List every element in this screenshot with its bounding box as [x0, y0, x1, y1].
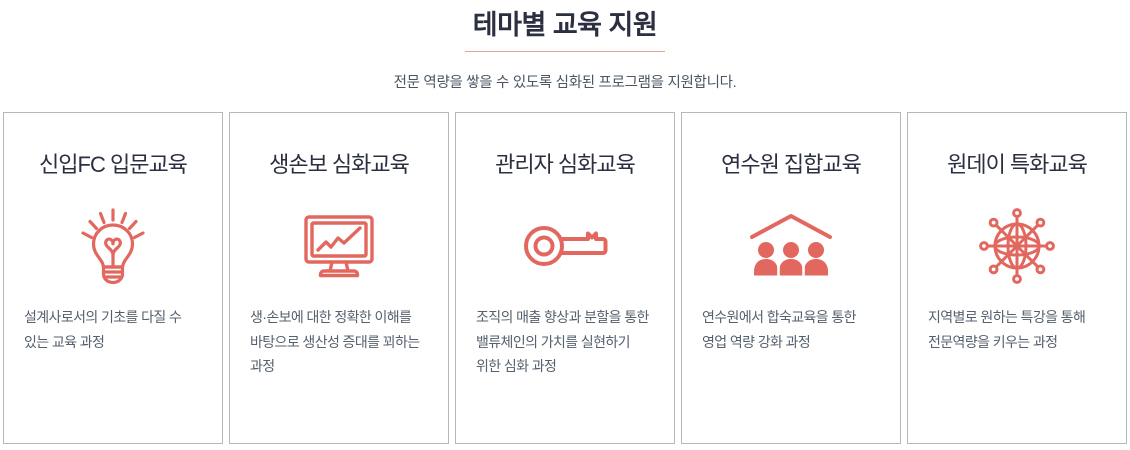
card-title: 관리자 심화교육 — [495, 151, 635, 179]
card-title: 생손보 심화교육 — [269, 151, 409, 179]
card-title: 연수원 집합교육 — [721, 151, 861, 179]
card-description: 지역별로 원하는 특강을 통해 전문역량을 키우는 과정 — [928, 305, 1106, 354]
training-card-row: 신입FC 입문교육 — [0, 112, 1130, 444]
card-description: 연수원에서 합숙교육을 통한 영업 역량 강화 과정 — [702, 305, 880, 354]
page-title: 테마별 교육 지원 — [0, 8, 1130, 42]
card-title: 원데이 특화교육 — [947, 151, 1087, 179]
card-description: 조직의 매출 향상과 분할을 통한 밸류체인의 가치를 실현하기 위한 심화 과… — [476, 305, 654, 379]
people-under-roof-icon — [747, 205, 835, 287]
card-description: 생·손보에 대한 정확한 이해를 바탕으로 생산성 증대를 꾀하는 과정 — [250, 305, 428, 379]
section-header: 테마별 교육 지원 전문 역량을 쌓을 수 있도록 심화된 프로그램을 지원합니… — [0, 0, 1130, 93]
training-card-shinip-fc[interactable]: 신입FC 입문교육 — [3, 112, 223, 444]
training-card-saengsonbo[interactable]: 생손보 심화교육 — [229, 112, 449, 444]
card-description: 설계사로서의 기초를 다질 수 있는 교육 과정 — [24, 305, 202, 354]
page-subtitle: 전문 역량을 쌓을 수 있도록 심화된 프로그램을 지원합니다. — [0, 73, 1130, 93]
training-card-oneday[interactable]: 원데이 특화교육 — [907, 112, 1127, 444]
monitor-chart-icon — [300, 205, 378, 287]
themed-training-support-section: 테마별 교육 지원 전문 역량을 쌓을 수 있도록 심화된 프로그램을 지원합니… — [0, 0, 1130, 450]
key-icon — [522, 205, 608, 287]
training-card-gwanrija[interactable]: 관리자 심화교육 조직의 매출 향상과 분할을 통한 밸류체인의 가치를 실현하… — [455, 112, 675, 444]
globe-network-icon — [977, 205, 1057, 287]
lightbulb-icon — [76, 205, 150, 287]
card-title: 신입FC 입문교육 — [39, 151, 187, 179]
training-card-yeonsuwon[interactable]: 연수원 집합교육 — [681, 112, 901, 444]
title-underline-divider — [465, 51, 665, 52]
